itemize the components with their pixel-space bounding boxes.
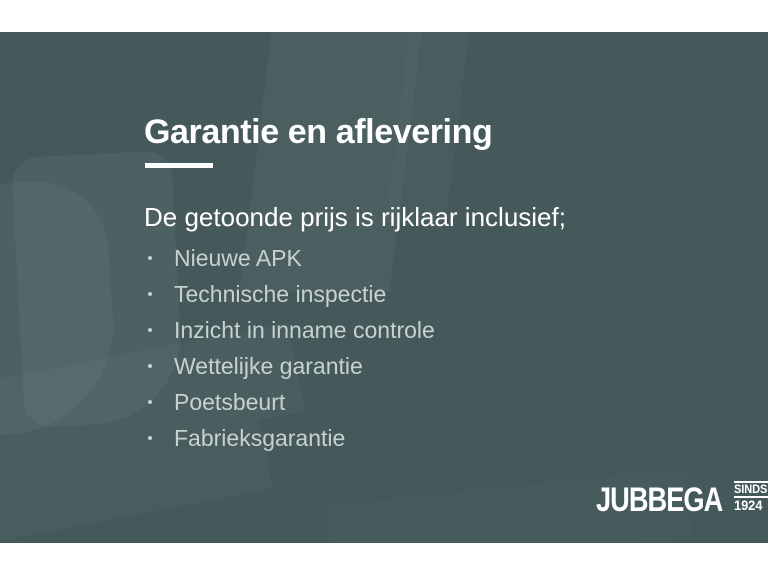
list-item-label: Poetsbeurt	[174, 389, 285, 415]
slide-canvas: Garantie en aflevering De getoonde prijs…	[0, 32, 768, 543]
bullet-dot-icon	[148, 364, 152, 368]
intro-text: De getoonde prijs is rijklaar inclusief;	[144, 202, 566, 233]
list-item: Technische inspectie	[144, 276, 435, 312]
brand-logo: JUBBEGA SINDS 1924	[596, 481, 768, 515]
logo-since-year: 1924	[734, 498, 767, 514]
list-item-label: Inzicht in inname controle	[174, 317, 435, 343]
list-item-label: Technische inspectie	[174, 281, 386, 307]
logo-since-lockup: SINDS 1924	[734, 481, 768, 515]
bullet-dot-icon	[148, 436, 152, 440]
list-item: Nieuwe APK	[144, 240, 435, 276]
letterbox-bottom	[0, 543, 768, 576]
logo-since-word: SINDS	[734, 483, 767, 496]
list-item-label: Wettelijke garantie	[174, 353, 363, 379]
slide-frame: Garantie en aflevering De getoonde prijs…	[0, 0, 768, 576]
list-item: Poetsbeurt	[144, 384, 435, 420]
bullet-dot-icon	[148, 292, 152, 296]
bullet-dot-icon	[148, 256, 152, 260]
letterbox-top	[0, 0, 768, 32]
title-underline-accent	[145, 163, 213, 168]
list-item: Fabrieksgarantie	[144, 420, 435, 456]
list-item: Wettelijke garantie	[144, 348, 435, 384]
list-item-label: Fabrieksgarantie	[174, 425, 345, 451]
list-item: Inzicht in inname controle	[144, 312, 435, 348]
page-title: Garantie en aflevering	[144, 113, 492, 152]
bullet-dot-icon	[148, 328, 152, 332]
bullet-dot-icon	[148, 400, 152, 404]
logo-wordmark: JUBBEGA	[596, 487, 722, 515]
list-item-label: Nieuwe APK	[174, 245, 302, 271]
feature-list: Nieuwe APK Technische inspectie Inzicht …	[144, 240, 435, 456]
